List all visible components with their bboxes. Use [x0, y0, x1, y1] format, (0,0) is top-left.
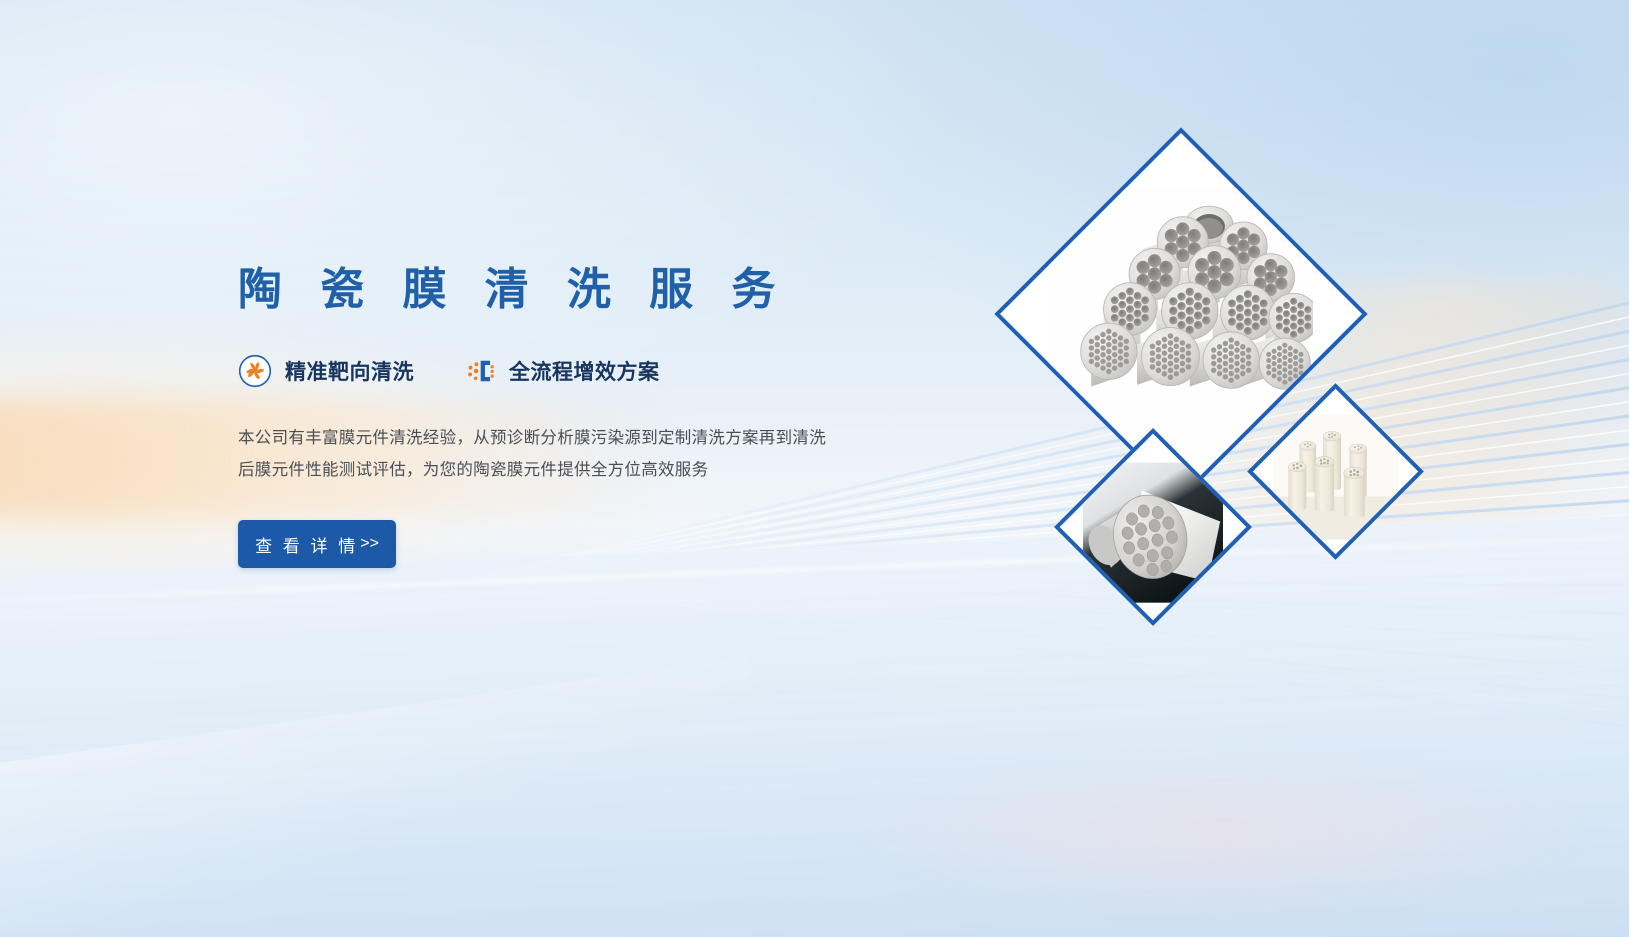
feature-item-targeted-cleaning: 精准靶向清洗 [238, 354, 414, 388]
description-line-1: 本公司有丰富膜元件清洗经验，从预诊断分析膜污染源到定制清洗方案再到清洗 [238, 422, 898, 454]
page-title: 陶 瓷 膜 清 洗 服 务 [238, 262, 958, 318]
chevron-right-icon: >> [360, 535, 379, 553]
description-text: 本公司有丰富膜元件清洗经验，从预诊断分析膜污染源到定制清洗方案再到清洗 后膜元件… [238, 422, 898, 486]
hero-banner: 陶 瓷 膜 清 洗 服 务 精准靶向清洗 [0, 0, 1629, 937]
background-bottom-warm [847, 750, 1596, 919]
feature-item-full-process: 全流程增效方案 [462, 354, 660, 388]
feature-list: 精准靶向清洗 全流程增效方案 [238, 354, 958, 388]
view-details-label: 查 看 详 情 [255, 532, 358, 557]
hero-content: 陶 瓷 膜 清 洗 服 务 精准靶向清洗 [238, 262, 958, 568]
feature-label: 全流程增效方案 [509, 356, 660, 386]
description-line-2: 后膜元件性能测试评估，为您的陶瓷膜元件提供全方位高效服务 [238, 454, 898, 486]
flow-dots-icon [462, 354, 496, 388]
view-details-button[interactable]: 查 看 详 情 >> [238, 520, 396, 568]
pinwheel-icon [238, 354, 272, 388]
feature-label: 精准靶向清洗 [285, 356, 414, 386]
